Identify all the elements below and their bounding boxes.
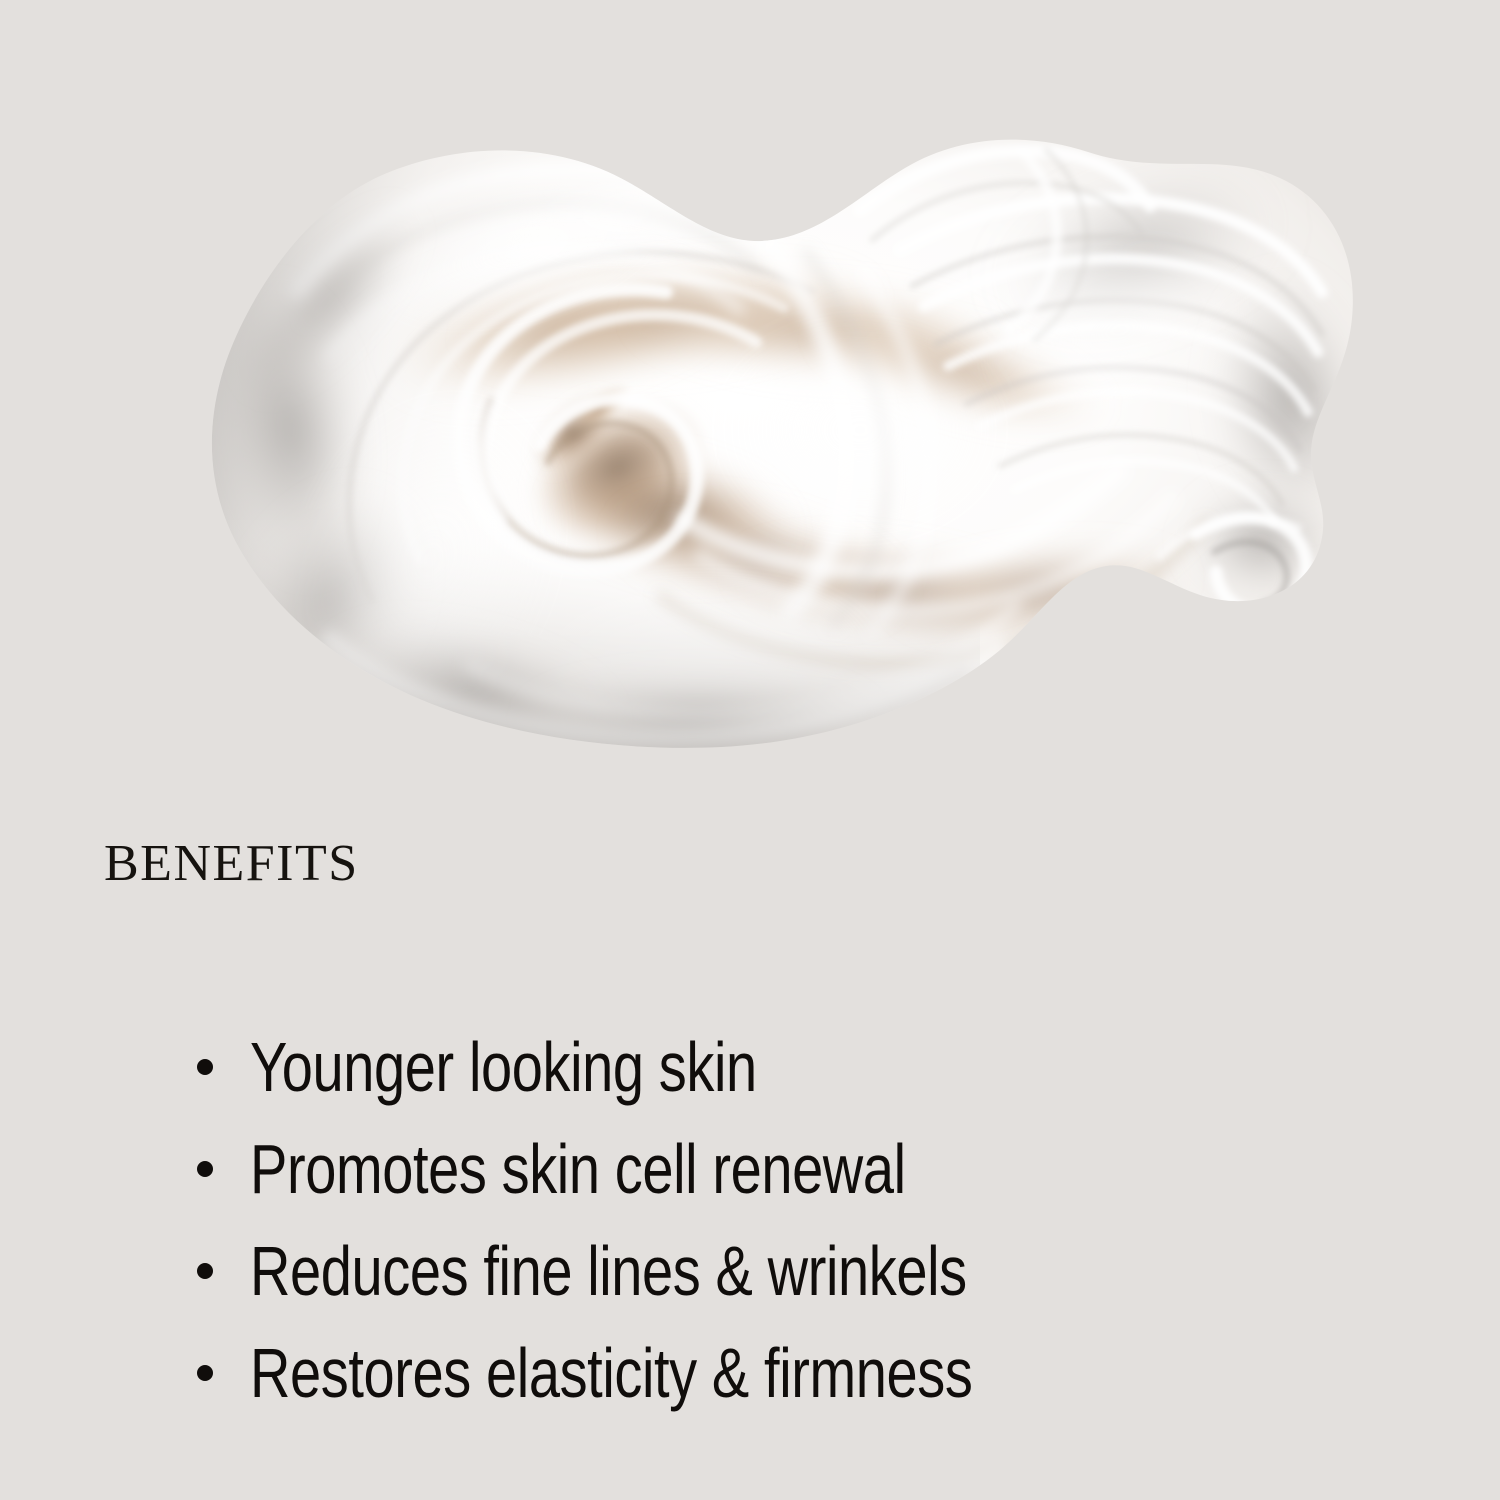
benefits-list: Younger looking skin Promotes skin cell … (0, 1016, 1500, 1424)
bullet-icon (197, 1263, 213, 1279)
benefit-label: Younger looking skin (250, 1032, 757, 1102)
benefit-label: Promotes skin cell renewal (250, 1134, 906, 1204)
benefit-item: Promotes skin cell renewal (0, 1118, 1500, 1220)
benefit-item: Restores elasticity & firmness (0, 1322, 1500, 1424)
bullet-icon (197, 1161, 213, 1177)
bullet-icon (197, 1365, 213, 1381)
cream-swirl-product-image (0, 0, 1500, 800)
bullet-icon (197, 1059, 213, 1075)
benefit-item: Reduces fine lines & wrinkels (0, 1220, 1500, 1322)
product-benefits-page: BENEFITS Younger looking skin Promotes s… (0, 0, 1500, 1500)
benefit-label: Reduces fine lines & wrinkels (250, 1236, 967, 1306)
benefit-item: Younger looking skin (0, 1016, 1500, 1118)
benefits-heading: BENEFITS (104, 838, 359, 890)
benefits-section: BENEFITS Younger looking skin Promotes s… (0, 800, 1500, 1500)
benefit-label: Restores elasticity & firmness (250, 1338, 972, 1408)
